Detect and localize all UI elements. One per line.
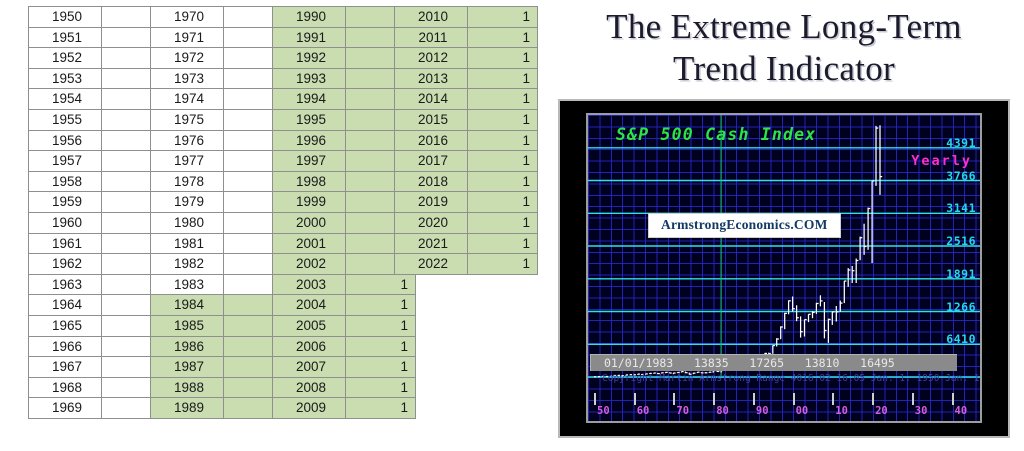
signal-cell: 1 [346, 336, 416, 357]
chart-x-tick [673, 393, 675, 405]
signal-cell: 1 [468, 7, 538, 28]
year-cell: 1974 [151, 89, 224, 110]
chart-x-tick [594, 393, 596, 405]
signal-cell: 1 [468, 151, 538, 172]
year-cell: 1958 [29, 171, 102, 192]
year-cell: 1957 [29, 151, 102, 172]
year-cell: 1962 [29, 254, 102, 275]
year-cell: 2016 [395, 130, 468, 151]
signal-cell: 1 [468, 27, 538, 48]
table-row: 20051 [273, 315, 416, 336]
chart-x-axis: 50607080900010203040 [588, 395, 980, 417]
chart-watermark: ArmstrongEconomics.COM [648, 213, 841, 238]
year-cell: 1956 [29, 130, 102, 151]
year-cell: 2013 [395, 68, 468, 89]
year-cell: 1992 [273, 48, 346, 69]
chart-x-tick-label: 50 [597, 405, 610, 417]
year-cell: 2007 [273, 357, 346, 378]
chart-x-tick [832, 393, 834, 405]
year-cell: 2020 [395, 212, 468, 233]
table-row: 20111 [395, 27, 538, 48]
year-cell: 1981 [151, 233, 224, 254]
table-row: 20041 [273, 295, 416, 316]
chart-x-tick [793, 393, 795, 405]
year-cell: 2009 [273, 398, 346, 419]
chart-x-tick-label: 30 [915, 405, 928, 417]
year-cell: 1987 [151, 357, 224, 378]
year-cell: 2021 [395, 233, 468, 254]
year-cell: 1968 [29, 377, 102, 398]
table-row: 20171 [395, 151, 538, 172]
table-row: 20081 [273, 377, 416, 398]
signal-cell: 1 [468, 171, 538, 192]
signal-cell: 1 [468, 89, 538, 110]
signal-cell: 1 [346, 295, 416, 316]
year-cell: 1982 [151, 254, 224, 275]
year-cell: 1988 [151, 377, 224, 398]
year-cell: 2003 [273, 274, 346, 295]
table-row: 20071 [273, 357, 416, 378]
year-cell: 1969 [29, 398, 102, 419]
year-cell: 1994 [273, 89, 346, 110]
year-cell: 2015 [395, 109, 468, 130]
chart-x-tick [912, 393, 914, 405]
chart-x-tick-label: 80 [716, 405, 729, 417]
signal-cell: 1 [468, 212, 538, 233]
table-row: 20131 [395, 68, 538, 89]
year-cell: 1965 [29, 315, 102, 336]
signal-cell: 1 [346, 357, 416, 378]
chart-y-tick-label: 1891 [946, 267, 976, 281]
table-row: 20211 [395, 233, 538, 254]
chart-y-tick-label: 3766 [946, 169, 976, 183]
chart-x-tick [753, 393, 755, 405]
table-row: 20221 [395, 254, 538, 275]
year-cell: 1986 [151, 336, 224, 357]
year-signal-table-block-4: 2010120111201212013120141201512016120171… [394, 6, 538, 275]
year-cell: 1996 [273, 130, 346, 151]
signal-cell: 1 [346, 315, 416, 336]
chart-x-tick-label: 20 [875, 405, 888, 417]
year-cell: 1971 [151, 27, 224, 48]
page-title-line-1: The Extreme Long-Term [556, 6, 1012, 48]
table-row: 20091 [273, 398, 416, 419]
chart-x-tick-label: 90 [756, 405, 769, 417]
year-cell: 1972 [151, 48, 224, 69]
year-cell: 1989 [151, 398, 224, 419]
year-cell: 1964 [29, 295, 102, 316]
table-row: 20121 [395, 48, 538, 69]
table-row: 20061 [273, 336, 416, 357]
year-cell: 1984 [151, 295, 224, 316]
chart-plot-border: S&P 500 Cash Index Yearly 43913766314125… [586, 113, 982, 423]
year-cell: 1973 [151, 68, 224, 89]
chart-x-tick-label: 60 [637, 405, 650, 417]
table-row: 20191 [395, 192, 538, 213]
year-cell: 1952 [29, 48, 102, 69]
chart-plot-area: S&P 500 Cash Index Yearly 43913766314125… [588, 115, 980, 421]
year-cell: 2014 [395, 89, 468, 110]
table-row: 20161 [395, 130, 538, 151]
chart-x-tick-label: 70 [676, 405, 689, 417]
year-signal-table: 2010120111201212013120141201512016120171… [394, 6, 538, 275]
year-cell: 2008 [273, 377, 346, 398]
year-cell: 1977 [151, 151, 224, 172]
year-cell: 1980 [151, 212, 224, 233]
year-cell: 1999 [273, 192, 346, 213]
page-root: 1950019510195201953019540195501956019570… [0, 0, 1024, 451]
year-cell: 2022 [395, 254, 468, 275]
year-cell: 1961 [29, 233, 102, 254]
year-cell: 1954 [29, 89, 102, 110]
page-title-line-2: Trend Indicator [556, 48, 1012, 90]
year-cell: 2018 [395, 171, 468, 192]
signal-cell: 1 [468, 254, 538, 275]
table-row: 20181 [395, 171, 538, 192]
signal-cell: 1 [346, 377, 416, 398]
year-cell: 1990 [273, 7, 346, 28]
year-cell: 2002 [273, 254, 346, 275]
year-cell: 2005 [273, 315, 346, 336]
chart-y-tick-label: 4391 [946, 136, 976, 150]
chart-period-label: Yearly [911, 153, 972, 169]
year-cell: 1960 [29, 212, 102, 233]
year-cell: 2011 [395, 27, 468, 48]
year-cell: 1978 [151, 171, 224, 192]
chart-y-tick-label: 1266 [946, 300, 976, 314]
year-cell: 1979 [151, 192, 224, 213]
year-cell: 1951 [29, 27, 102, 48]
year-cell: 2000 [273, 212, 346, 233]
year-cell: 1963 [29, 274, 102, 295]
year-cell: 1985 [151, 315, 224, 336]
year-cell: 2001 [273, 233, 346, 254]
year-cell: 1983 [151, 274, 224, 295]
year-cell: 1975 [151, 109, 224, 130]
page-title: The Extreme Long-Term Trend Indicator [556, 6, 1012, 90]
chart-copyright-line: Copyright Martin Armstrong Range 4016.02… [602, 373, 980, 385]
chart-title: S&P 500 Cash Index [616, 125, 816, 144]
signal-cell: 1 [346, 274, 416, 295]
table-row: 20031 [273, 274, 416, 295]
year-cell: 1997 [273, 151, 346, 172]
chart-y-tick-label: 3141 [946, 201, 976, 215]
chart-x-tick [634, 393, 636, 405]
chart-y-tick-label: 2516 [946, 234, 976, 248]
signal-cell: 1 [468, 48, 538, 69]
year-cell: 2017 [395, 151, 468, 172]
signal-cell: 1 [468, 109, 538, 130]
year-cell: 1959 [29, 192, 102, 213]
year-cell: 2004 [273, 295, 346, 316]
year-cell: 2006 [273, 336, 346, 357]
year-cell: 1955 [29, 109, 102, 130]
chart-x-tick [952, 393, 954, 405]
year-cell: 1953 [29, 68, 102, 89]
year-cell: 2010 [395, 7, 468, 28]
year-cell: 2012 [395, 48, 468, 69]
table-body: 2010120111201212013120141201512016120171… [395, 7, 538, 275]
chart-x-tick [872, 393, 874, 405]
signal-cell: 1 [346, 398, 416, 419]
year-cell: 1970 [151, 7, 224, 28]
year-cell: 1967 [29, 357, 102, 378]
chart-status-bar: 01/01/1983 13835 17265 13810 16495 [590, 354, 957, 371]
chart-frame: S&P 500 Cash Index Yearly 43913766314125… [558, 99, 1010, 438]
year-cell: 1976 [151, 130, 224, 151]
signal-cell: 1 [468, 192, 538, 213]
chart-y-tick-label: 6410 [946, 332, 976, 346]
chart-x-tick-label: 00 [796, 405, 809, 417]
year-cell: 1991 [273, 27, 346, 48]
year-cell: 1993 [273, 68, 346, 89]
table-row: 20101 [395, 7, 538, 28]
signal-cell: 1 [468, 233, 538, 254]
table-row: 20141 [395, 89, 538, 110]
year-cell: 1950 [29, 7, 102, 28]
year-cell: 1995 [273, 109, 346, 130]
year-cell: 1966 [29, 336, 102, 357]
table-row: 20201 [395, 212, 538, 233]
signal-cell: 1 [468, 68, 538, 89]
chart-x-tick [713, 393, 715, 405]
chart-x-tick-label: 10 [835, 405, 848, 417]
year-cell: 2019 [395, 192, 468, 213]
signal-cell: 1 [468, 130, 538, 151]
chart-x-tick-label: 40 [955, 405, 968, 417]
year-cell: 1998 [273, 171, 346, 192]
table-row: 20151 [395, 109, 538, 130]
